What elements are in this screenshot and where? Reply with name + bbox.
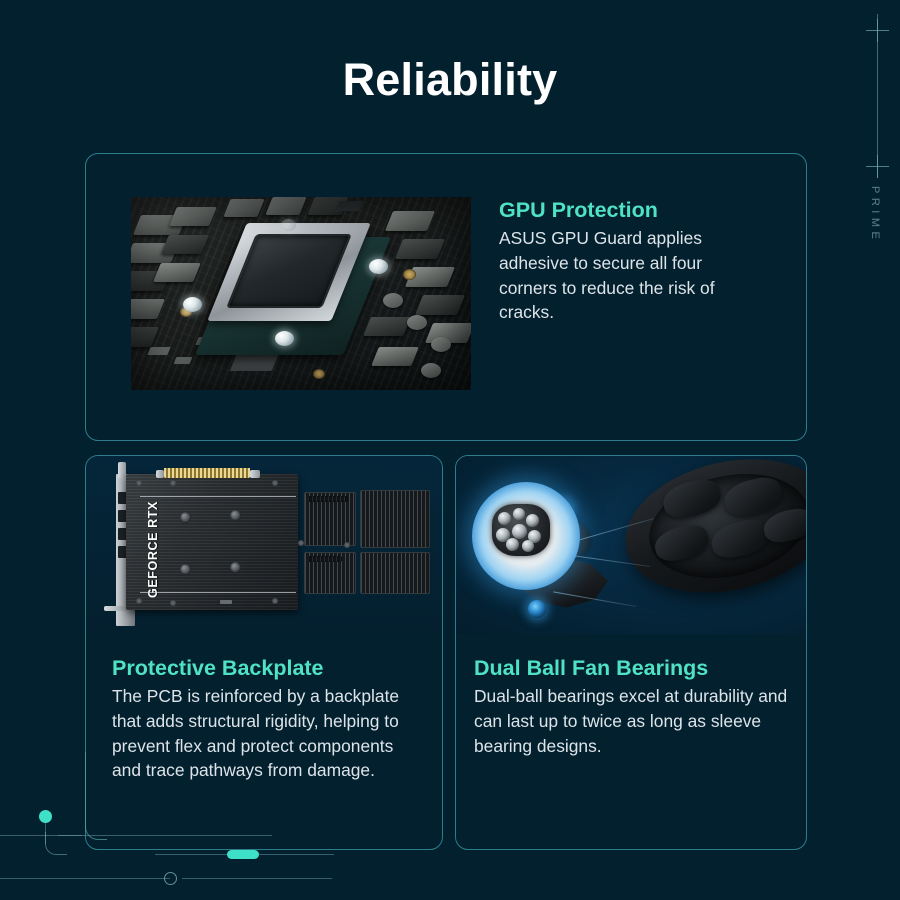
fan-dual-ball-bearing-diagram (456, 456, 806, 634)
card-gpu-protection: GPU Protection ASUS GPU Guard applies ad… (85, 153, 807, 441)
circuit-line-5 (155, 854, 233, 855)
circuit-elbow-1 (45, 832, 67, 855)
page-title: Reliability (0, 54, 900, 106)
plus-icon-bottom (866, 155, 889, 178)
circuit-line-6 (254, 854, 334, 855)
plus-icon-top (866, 19, 889, 42)
prime-decoration: PRIME (850, 0, 900, 260)
card-gpu-protection-heading: GPU Protection (499, 198, 781, 223)
graphics-card-backplate-photo: GEFORCE RTX (86, 456, 442, 634)
card-dual-ball-fan-bearings-body: Dual-ball bearings excel at durability a… (474, 684, 792, 758)
circuit-elbow-2 (85, 752, 107, 840)
card-protective-backplate-heading: Protective Backplate (112, 656, 422, 681)
circuit-decoration (0, 790, 330, 900)
gpu-die-adhesive-photo (86, 154, 471, 440)
reliability-page: Reliability (0, 0, 900, 900)
circuit-dot (39, 810, 52, 823)
prime-label: PRIME (869, 186, 881, 243)
circuit-pill (227, 850, 259, 859)
circuit-ring (164, 872, 177, 885)
card-protective-backplate-body: The PCB is reinforced by a backplate tha… (112, 684, 422, 783)
circuit-line-3 (0, 878, 170, 879)
card-dual-ball-fan-bearings: Dual Ball Fan Bearings Dual-ball bearing… (455, 455, 807, 850)
backplate-geforce-label: GEFORCE RTX (140, 484, 160, 616)
card-dual-ball-fan-bearings-heading: Dual Ball Fan Bearings (474, 656, 792, 681)
card-gpu-protection-body: ASUS GPU Guard applies adhesive to secur… (499, 226, 751, 325)
circuit-line-4 (182, 878, 332, 879)
